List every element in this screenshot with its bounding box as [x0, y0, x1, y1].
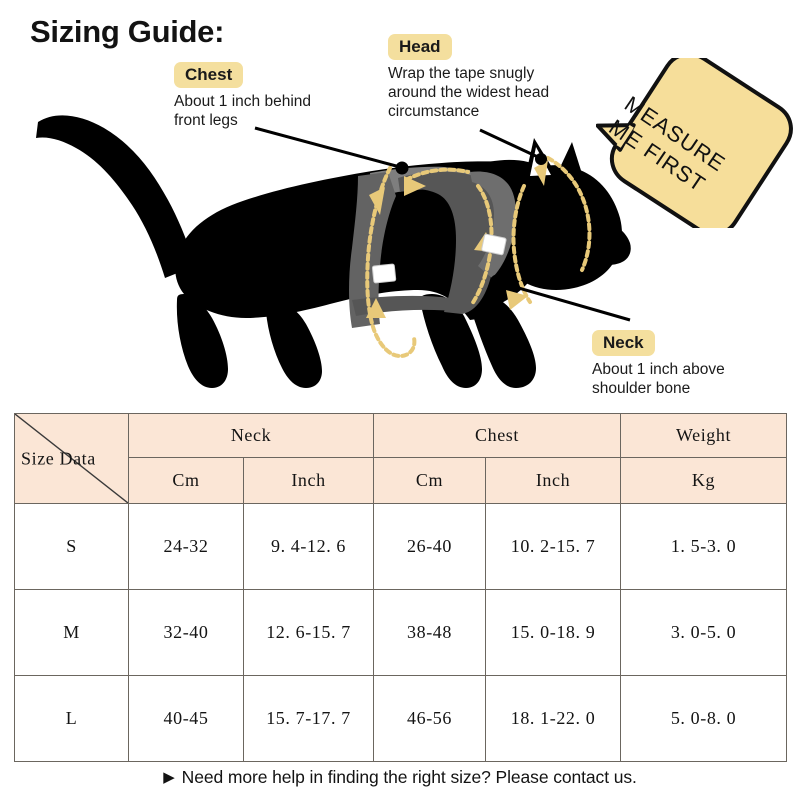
cell-chest-cm: 46-56 — [374, 676, 486, 762]
callout-chest: Chest About 1 inch behind front legs — [174, 62, 311, 131]
table-header-neck: Neck — [129, 414, 374, 458]
leader-line-head — [480, 130, 540, 158]
callout-head: Head Wrap the tape snugly around the wid… — [388, 34, 549, 122]
play-triangle-icon: ▶ — [163, 768, 174, 786]
measure-me-first-bubble: MEASURE ME FIRST — [596, 58, 796, 228]
cell-chest-inch: 10. 2-15. 7 — [486, 504, 621, 590]
table-header-chest-cm: Cm — [374, 458, 486, 504]
buckle-girth — [372, 264, 396, 283]
bubble-shape-svg — [596, 58, 796, 228]
cell-chest-inch: 15. 0-18. 9 — [486, 590, 621, 676]
cell-neck-inch: 12. 6-15. 7 — [244, 590, 374, 676]
cell-size: M — [15, 590, 129, 676]
table-header: Size Data Neck Chest Weight Cm Inch Cm I… — [15, 414, 787, 504]
cat-hind-leg-back — [266, 302, 322, 388]
table-corner-label: Size Data — [21, 448, 124, 469]
bubble-body — [602, 58, 796, 228]
table-row: M 32-40 12. 6-15. 7 38-48 15. 0-18. 9 3.… — [15, 590, 787, 676]
cell-weight-kg: 5. 0-8. 0 — [621, 676, 787, 762]
table-header-weight-kg: Kg — [621, 458, 787, 504]
table-row: L 40-45 15. 7-17. 7 46-56 18. 1-22. 0 5.… — [15, 676, 787, 762]
cell-neck-inch: 9. 4-12. 6 — [244, 504, 374, 590]
table-header-neck-cm: Cm — [129, 458, 244, 504]
table-header-neck-inch: Inch — [244, 458, 374, 504]
cell-weight-kg: 3. 0-5. 0 — [621, 590, 787, 676]
table-header-chest-inch: Inch — [486, 458, 621, 504]
callout-chest-body: About 1 inch behind front legs — [174, 93, 311, 131]
leader-dot-head — [535, 153, 547, 165]
leader-line-chest — [255, 128, 400, 167]
cell-size: L — [15, 676, 129, 762]
callout-neck-badge: Neck — [592, 330, 655, 356]
table-header-unit-row: Cm Inch Cm Inch Kg — [15, 458, 787, 504]
cell-chest-cm: 26-40 — [374, 504, 486, 590]
table-header-chest: Chest — [374, 414, 621, 458]
table-body: S 24-32 9. 4-12. 6 26-40 10. 2-15. 7 1. … — [15, 504, 787, 762]
table-row: S 24-32 9. 4-12. 6 26-40 10. 2-15. 7 1. … — [15, 504, 787, 590]
leader-dot-chest — [396, 162, 409, 175]
callout-neck: Neck About 1 inch above shoulder bone — [592, 330, 725, 399]
cell-neck-cm: 40-45 — [129, 676, 244, 762]
callout-head-body: Wrap the tape snugly around the widest h… — [388, 65, 549, 122]
cell-weight-kg: 1. 5-3. 0 — [621, 504, 787, 590]
cat-tail — [36, 115, 195, 278]
cell-chest-inch: 18. 1-22. 0 — [486, 676, 621, 762]
cell-neck-cm: 32-40 — [129, 590, 244, 676]
callout-neck-body: About 1 inch above shoulder bone — [592, 361, 725, 399]
footer-note: ▶Need more help in finding the right siz… — [0, 767, 800, 788]
footer-note-text: Need more help in finding the right size… — [182, 767, 637, 787]
cell-size: S — [15, 504, 129, 590]
table-header-group-row: Size Data Neck Chest Weight — [15, 414, 787, 458]
leader-dot-neck — [491, 275, 504, 288]
callout-head-badge: Head — [388, 34, 452, 60]
cell-neck-inch: 15. 7-17. 7 — [244, 676, 374, 762]
size-chart-table: Size Data Neck Chest Weight Cm Inch Cm I… — [14, 413, 787, 762]
cell-chest-cm: 38-48 — [374, 590, 486, 676]
cell-neck-cm: 24-32 — [129, 504, 244, 590]
table-corner-cell: Size Data — [15, 414, 129, 504]
callout-chest-badge: Chest — [174, 62, 243, 88]
table-header-weight: Weight — [621, 414, 787, 458]
